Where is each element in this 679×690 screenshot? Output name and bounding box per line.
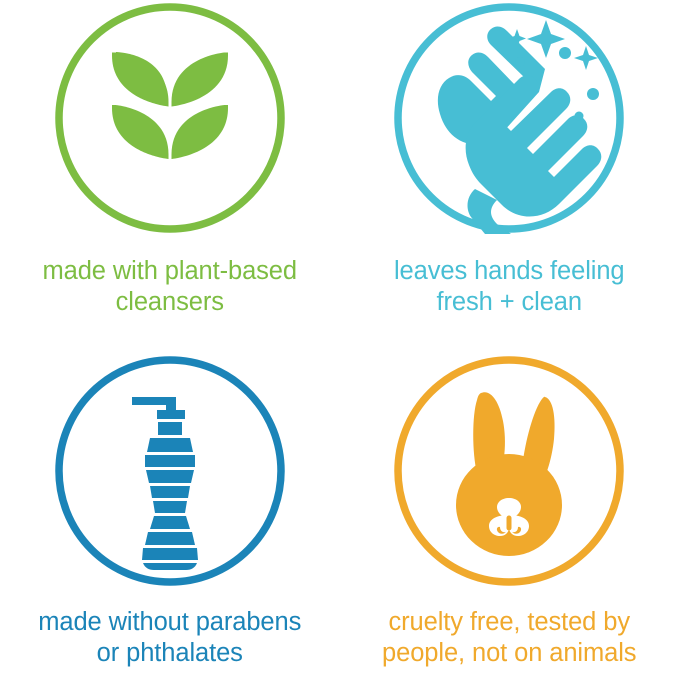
benefit-panel-no-parabens: made without parabens or phthalates xyxy=(0,345,340,690)
benefit-caption-no-parabens: made without parabens or phthalates xyxy=(0,607,340,669)
pump-bottle-icon xyxy=(54,355,286,587)
caption-line: leaves hands feeling xyxy=(346,256,674,287)
caption-line: people, not on animals xyxy=(346,638,674,669)
benefit-caption-plant-based: made with plant-based cleansers xyxy=(0,256,340,318)
rabbit-head-icon xyxy=(393,355,625,587)
benefit-icon-grid: made with plant-based cleansers xyxy=(0,0,679,690)
benefit-panel-plant-based: made with plant-based cleansers xyxy=(0,0,340,345)
leaf-plant-icon xyxy=(54,2,286,234)
benefit-panel-cruelty-free: cruelty free, tested by people, not on a… xyxy=(340,345,679,690)
benefit-panel-fresh-clean: leaves hands feeling fresh + clean xyxy=(340,0,679,345)
benefit-caption-fresh-clean: leaves hands feeling fresh + clean xyxy=(340,256,679,318)
benefit-caption-cruelty-free: cruelty free, tested by people, not on a… xyxy=(340,607,679,669)
caption-line: made without parabens xyxy=(6,607,334,638)
caption-line: cruelty free, tested by xyxy=(346,607,674,638)
caption-line: or phthalates xyxy=(6,638,334,669)
caption-line: cleansers xyxy=(6,287,334,318)
washing-hands-icon xyxy=(393,2,625,234)
caption-line: fresh + clean xyxy=(346,287,674,318)
caption-line: made with plant-based xyxy=(6,256,334,287)
